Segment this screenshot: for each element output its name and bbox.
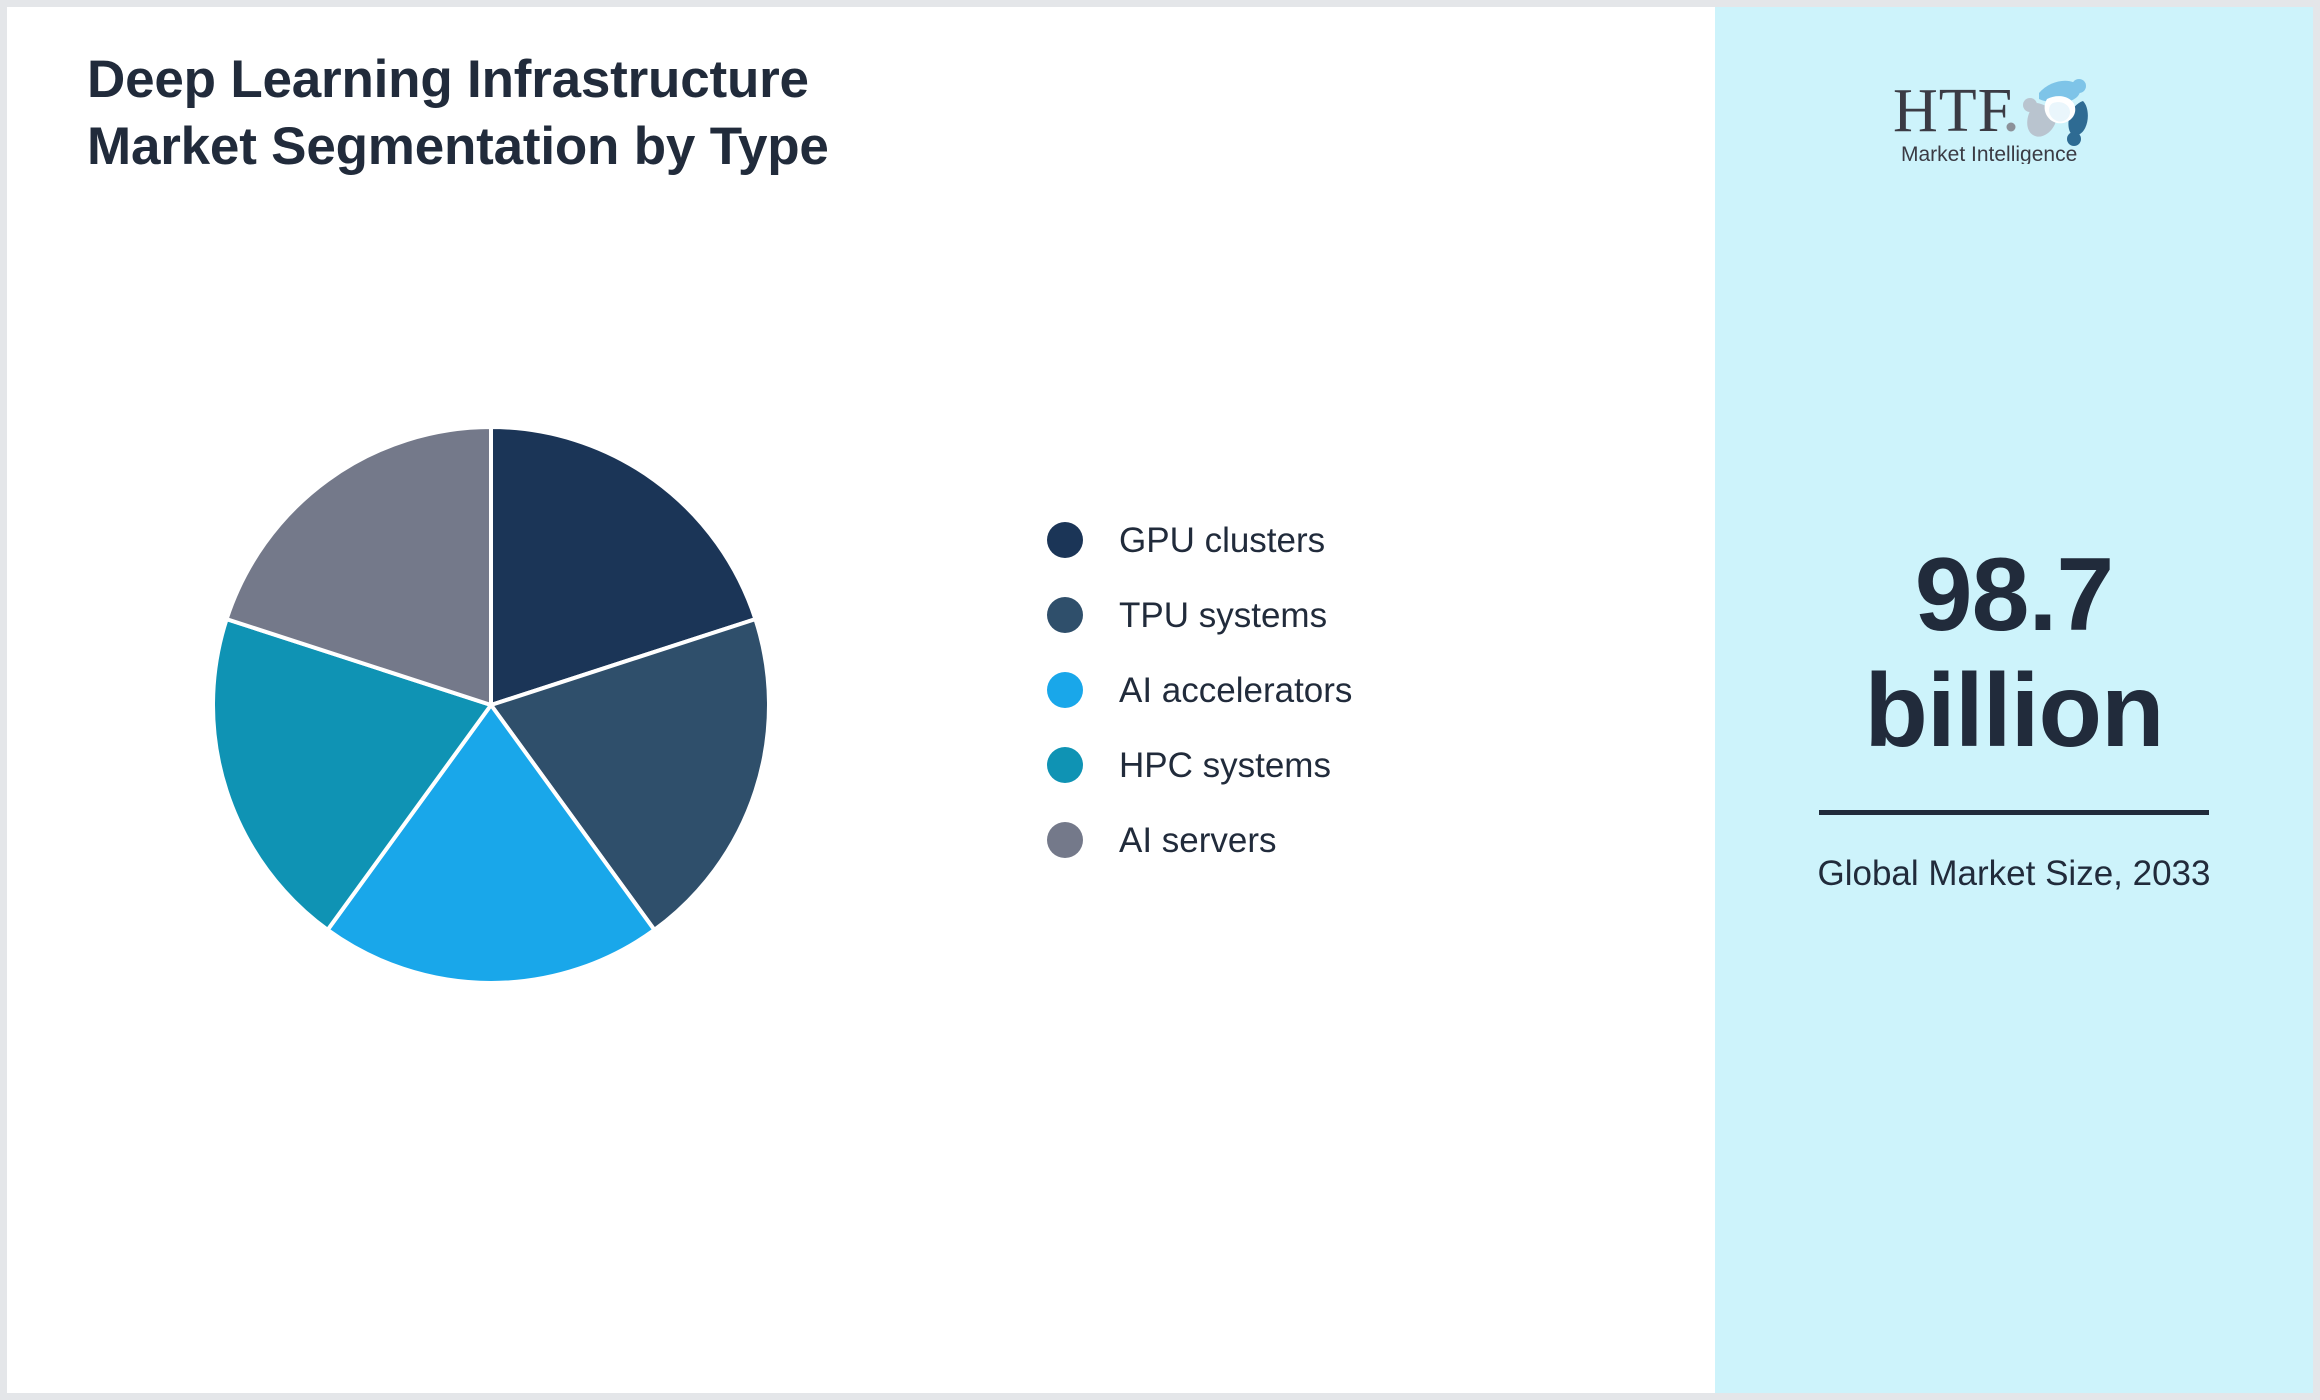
chart-panel: Deep Learning Infrastructure Market Segm… bbox=[7, 7, 1715, 1393]
legend-item-label: HPC systems bbox=[1119, 748, 1331, 783]
pie-chart bbox=[197, 411, 785, 999]
legend-dot-icon bbox=[1047, 672, 1083, 708]
legend-dot-icon bbox=[1047, 822, 1083, 858]
legend-item-label: GPU clusters bbox=[1119, 523, 1325, 558]
legend-item-hpc-systems[interactable]: HPC systems bbox=[1047, 747, 1352, 783]
svg-text:HTF: HTF bbox=[1893, 77, 2013, 145]
svg-text:Market Intelligence: Market Intelligence bbox=[1901, 143, 2077, 164]
stat-value: 98.7 billion bbox=[1864, 537, 2163, 770]
stat-block: 98.7 billion Global Market Size, 2033 bbox=[1715, 537, 2313, 900]
htf-people-circle-logo-icon: HTF Market Inte bbox=[1889, 69, 2139, 164]
chart-legend: GPU clusters TPU systems AI accelerators… bbox=[1047, 522, 1352, 858]
legend-dot-icon bbox=[1047, 522, 1083, 558]
brand-logo: HTF Market Inte bbox=[1715, 69, 2313, 164]
legend-dot-icon bbox=[1047, 747, 1083, 783]
legend-item-label: AI accelerators bbox=[1119, 673, 1352, 708]
stat-panel: HTF Market Inte bbox=[1715, 7, 2313, 1393]
infographic-canvas: Deep Learning Infrastructure Market Segm… bbox=[0, 0, 2320, 1400]
pie-chart-svg bbox=[197, 411, 785, 999]
legend-item-label: AI servers bbox=[1119, 823, 1277, 858]
legend-item-label: TPU systems bbox=[1119, 598, 1327, 633]
stat-divider bbox=[1819, 810, 2209, 815]
legend-item-ai-servers[interactable]: AI servers bbox=[1047, 822, 1352, 858]
legend-item-gpu-clusters[interactable]: GPU clusters bbox=[1047, 522, 1352, 558]
stat-caption: Global Market Size, 2033 bbox=[1804, 849, 2224, 900]
legend-item-ai-accelerators[interactable]: AI accelerators bbox=[1047, 672, 1352, 708]
legend-item-tpu-systems[interactable]: TPU systems bbox=[1047, 597, 1352, 633]
legend-dot-icon bbox=[1047, 597, 1083, 633]
page-title: Deep Learning Infrastructure Market Segm… bbox=[87, 47, 1187, 181]
